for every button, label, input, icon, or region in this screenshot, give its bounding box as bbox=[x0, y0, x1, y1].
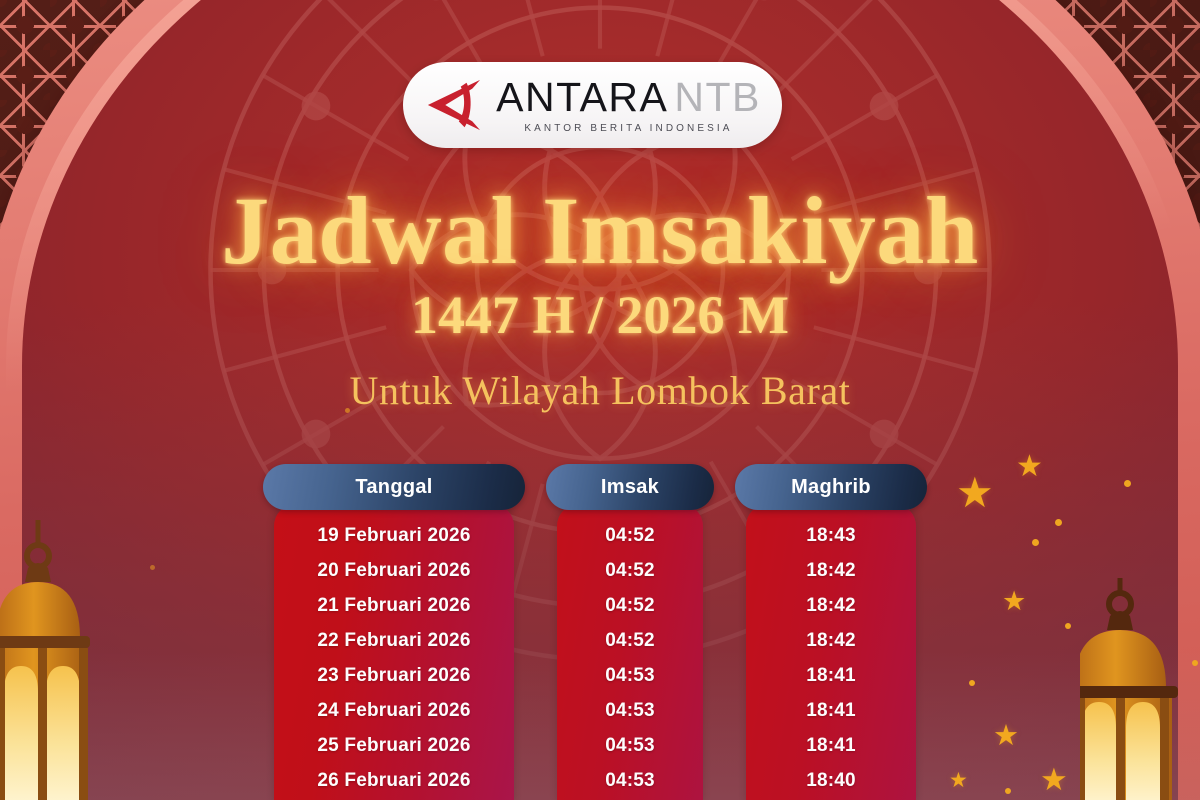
column-imsak: Imsak 04:52 04:52 04:52 04:52 04:53 04:5… bbox=[546, 464, 714, 800]
table-cell-date: 22 Februari 2026 bbox=[274, 623, 514, 658]
hijri-gregorian-year: 1447 H / 2026 M bbox=[0, 286, 1200, 345]
page-title: Jadwal Imsakiyah bbox=[0, 182, 1200, 280]
table-cell-maghrib: 18:41 bbox=[746, 728, 916, 763]
logo-wordmark: ANTARA NTB KANTOR BERITA INDONESIA bbox=[496, 77, 761, 134]
table-cell-maghrib: 18:42 bbox=[746, 623, 916, 658]
column-header-tanggal: Tanggal bbox=[263, 464, 525, 510]
column-body-imsak: 04:52 04:52 04:52 04:52 04:53 04:53 04:5… bbox=[557, 504, 703, 800]
table-cell-date: 23 Februari 2026 bbox=[274, 658, 514, 693]
table-cell-date: 20 Februari 2026 bbox=[274, 553, 514, 588]
logo-brand-text: ANTARA bbox=[496, 77, 668, 118]
table-cell-maghrib: 18:42 bbox=[746, 553, 916, 588]
imsakiyah-poster: ★ ★ ★ ★ ★ ★ bbox=[0, 0, 1200, 800]
column-header-imsak: Imsak bbox=[546, 464, 714, 510]
table-cell-imsak: 04:53 bbox=[557, 658, 703, 693]
imsakiyah-schedule-table: Tanggal 19 Februari 2026 20 Februari 202… bbox=[263, 464, 938, 800]
table-cell-imsak: 04:52 bbox=[557, 518, 703, 553]
column-body-tanggal: 19 Februari 2026 20 Februari 2026 21 Feb… bbox=[274, 504, 514, 800]
table-cell-maghrib: 18:43 bbox=[746, 518, 916, 553]
column-maghrib: Maghrib 18:43 18:42 18:42 18:42 18:41 18… bbox=[735, 464, 927, 800]
region-subtitle: Untuk Wilayah Lombok Barat bbox=[0, 367, 1200, 415]
hanging-lantern-icon bbox=[0, 520, 98, 800]
logo-region-text: NTB bbox=[674, 77, 761, 118]
table-cell-imsak: 04:53 bbox=[557, 763, 703, 798]
hanging-lantern-icon bbox=[1080, 578, 1200, 800]
table-cell-maghrib: 18:42 bbox=[746, 588, 916, 623]
logo-tagline: KANTOR BERITA INDONESIA bbox=[524, 123, 732, 134]
table-cell-date: 24 Februari 2026 bbox=[274, 693, 514, 728]
column-header-maghrib: Maghrib bbox=[735, 464, 927, 510]
table-cell-maghrib: 18:41 bbox=[746, 693, 916, 728]
table-cell-maghrib: 18:40 bbox=[746, 763, 916, 798]
table-cell-imsak: 04:53 bbox=[557, 693, 703, 728]
table-cell-date: 19 Februari 2026 bbox=[274, 518, 514, 553]
table-cell-maghrib: 18:41 bbox=[746, 658, 916, 693]
table-cell-date: 26 Februari 2026 bbox=[274, 763, 514, 798]
table-cell-date: 25 Februari 2026 bbox=[274, 728, 514, 763]
table-cell-date: 21 Februari 2026 bbox=[274, 588, 514, 623]
antara-ntb-logo[interactable]: ANTARA NTB KANTOR BERITA INDONESIA bbox=[403, 62, 782, 148]
table-cell-imsak: 04:52 bbox=[557, 588, 703, 623]
column-body-maghrib: 18:43 18:42 18:42 18:42 18:41 18:41 18:4… bbox=[746, 504, 916, 800]
table-cell-imsak: 04:53 bbox=[557, 728, 703, 763]
table-cell-imsak: 04:52 bbox=[557, 623, 703, 658]
antara-arrow-mark-icon bbox=[424, 77, 482, 133]
column-tanggal: Tanggal 19 Februari 2026 20 Februari 202… bbox=[263, 464, 525, 800]
headline-block: Jadwal Imsakiyah 1447 H / 2026 M Untuk W… bbox=[0, 182, 1200, 415]
table-cell-imsak: 04:52 bbox=[557, 553, 703, 588]
